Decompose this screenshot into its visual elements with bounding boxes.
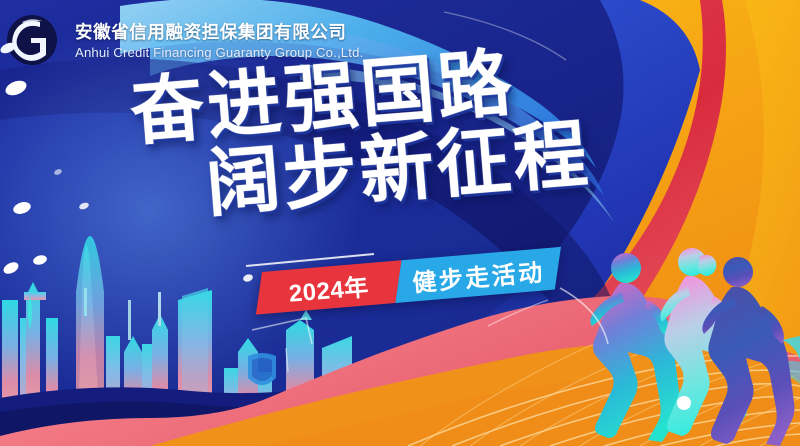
company-name-en: Anhui Credit Financing Guaranty Group Co… bbox=[75, 44, 363, 61]
subtitle-year: 2024年 bbox=[287, 267, 370, 309]
promo-banner: 安徽省信用融资担保集团有限公司 Anhui Credit Financing G… bbox=[0, 0, 800, 446]
brand-lockup: 安徽省信用融资担保集团有限公司 Anhui Credit Financing G… bbox=[8, 12, 363, 70]
company-g-monogram-icon bbox=[8, 12, 66, 70]
shield-mark bbox=[248, 353, 276, 385]
brand-text-block: 安徽省信用融资担保集团有限公司 Anhui Credit Financing G… bbox=[75, 20, 363, 61]
subtitle-label: 健步走活动 bbox=[411, 252, 546, 298]
highlight-dot bbox=[677, 396, 691, 410]
company-name-cn: 安徽省信用融资担保集团有限公司 bbox=[75, 22, 363, 42]
